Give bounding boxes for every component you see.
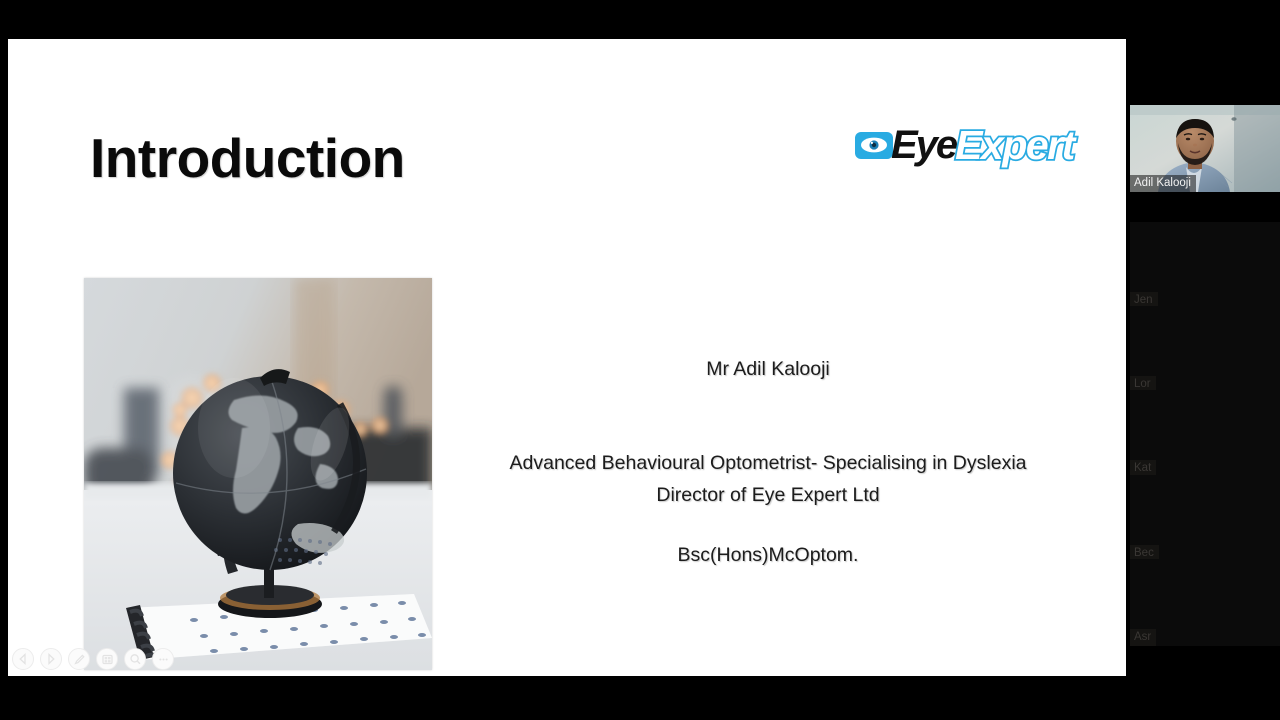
participant-tile-jen[interactable]: Jen (1130, 222, 1280, 309)
zoom-icon[interactable] (124, 648, 146, 670)
logo-word-eye: Eye (891, 125, 956, 165)
participant-tile-lor[interactable]: Lor (1130, 306, 1280, 393)
participant-filmstrip[interactable]: Adil Kalooji Jen Lor Kat Bec Asr (1130, 0, 1280, 720)
presenter-role: Advanced Behavioural Optometrist- Specia… (448, 448, 1088, 510)
presenter-role-line-1: Advanced Behavioural Optometrist- Specia… (448, 448, 1088, 479)
participant-name-label: Adil Kalooji (1130, 175, 1196, 192)
presenter-role-line-2: Director of Eye Expert Ltd (448, 480, 1088, 511)
presenter-name: Mr Adil Kalooji (448, 357, 1088, 382)
meeting-screen: Introduction Eye Expert (0, 0, 1280, 720)
shared-slide[interactable]: Introduction Eye Expert (8, 39, 1126, 676)
participant-tile-asr[interactable]: Asr (1130, 559, 1280, 646)
globe-photo (84, 278, 432, 670)
participant-name-label: Asr (1130, 629, 1156, 646)
pen-icon[interactable] (68, 648, 90, 670)
next-slide-icon[interactable] (40, 648, 62, 670)
page-title: Introduction (90, 131, 405, 186)
eye-expert-logo: Eye Expert (855, 123, 1074, 167)
eye-icon (855, 132, 893, 159)
participant-tile-kat[interactable]: Kat (1130, 390, 1280, 477)
more-options-icon[interactable] (152, 648, 174, 670)
presenter-qualifications: Bsc(Hons)McOptom. (448, 543, 1088, 568)
participant-tile-bec[interactable]: Bec (1130, 475, 1280, 562)
logo-word-expert: Expert (955, 125, 1074, 166)
previous-slide-icon[interactable] (12, 648, 34, 670)
participant-tile-adil-kalooji[interactable]: Adil Kalooji (1130, 105, 1280, 192)
all-slides-icon[interactable] (96, 648, 118, 670)
slideshow-toolbar (12, 648, 174, 670)
slide-body-text: Mr Adil Kalooji Advanced Behavioural Opt… (448, 357, 1088, 568)
